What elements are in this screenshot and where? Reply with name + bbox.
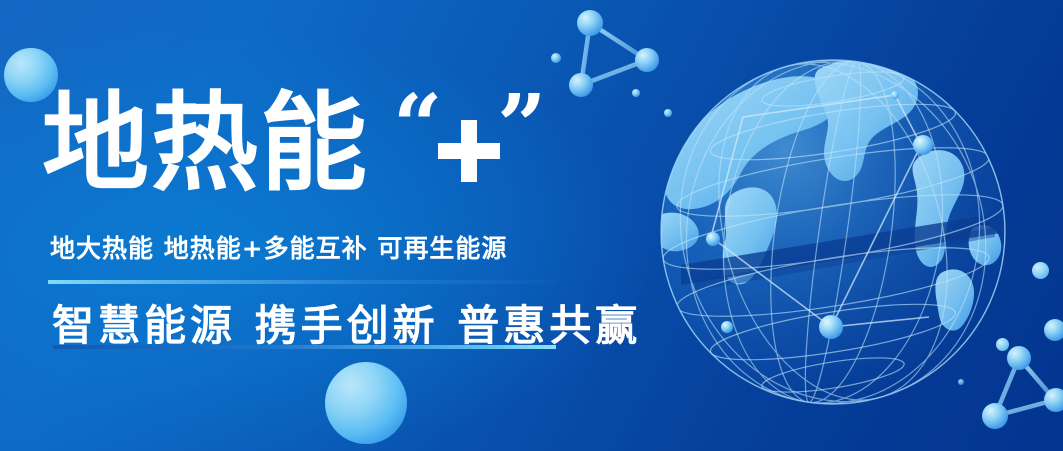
- plus-vertical-bar: [461, 120, 477, 182]
- plus-symbol-icon: [438, 120, 500, 182]
- globe-node: [706, 232, 720, 246]
- globe-node: [721, 321, 733, 333]
- opening-quote-mark: “: [393, 84, 442, 170]
- globe-graphic: [623, 27, 1043, 447]
- page-title: 地热能: [42, 92, 369, 197]
- geothermal-energy-banner: 地热能 “ ” 地大热能 地热能+多能互补 可再生能源 智慧能源 携手创新 普惠…: [0, 0, 1063, 451]
- banner-subtitle: 地大热能 地热能+多能互补 可再生能源: [50, 229, 507, 265]
- network-node: [1044, 319, 1063, 341]
- banner-text-block: 地热能 “ ” 地大热能 地热能+多能互补 可再生能源 智慧能源 携手创新 普惠…: [0, 0, 640, 451]
- quoted-plus-group: “ ”: [391, 92, 551, 200]
- divider-line-bottom: [53, 345, 556, 349]
- closing-quote-mark: ”: [497, 84, 546, 170]
- banner-tagline: 智慧能源 携手创新 普惠共赢: [52, 292, 641, 353]
- divider-line-top: [48, 280, 556, 284]
- title-row: 地热能 “ ”: [42, 92, 551, 200]
- globe-node: [819, 315, 843, 339]
- globe-node-small: [891, 91, 899, 99]
- globe-node: [913, 135, 933, 155]
